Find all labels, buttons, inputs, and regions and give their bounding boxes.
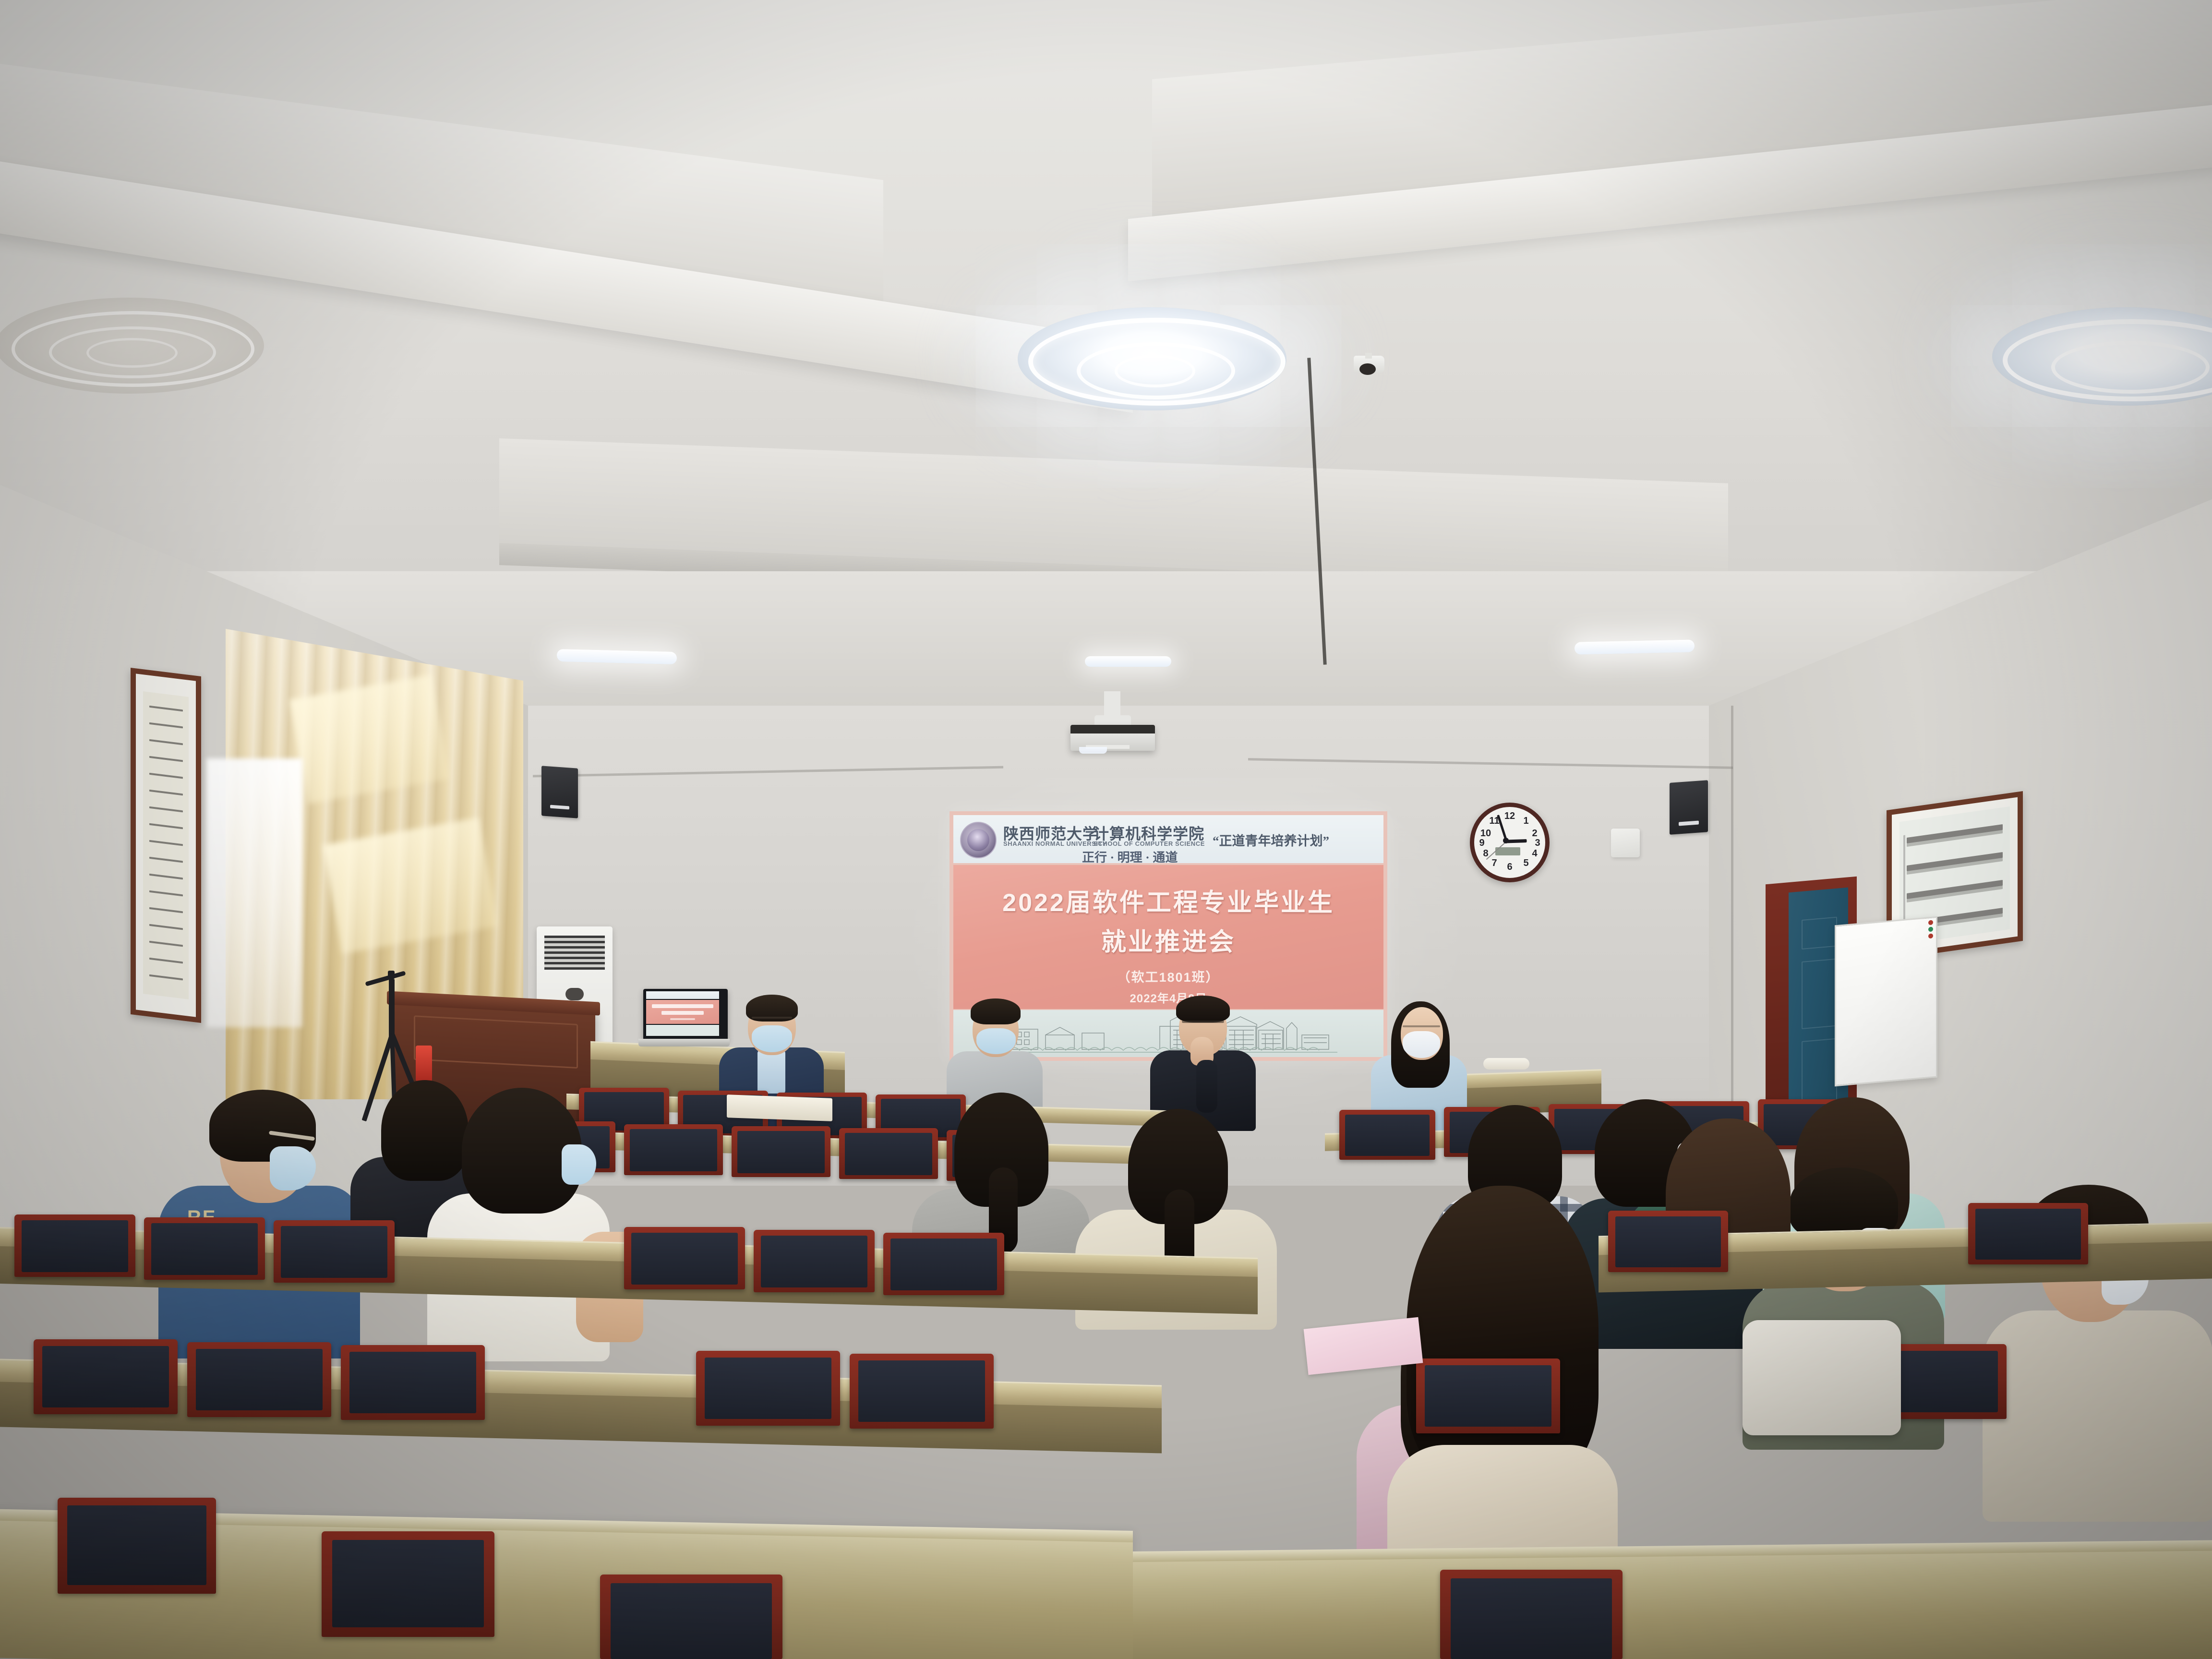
window-glare [206, 758, 302, 1027]
seat-d1 [34, 1339, 178, 1414]
wall-mounted-box [1611, 829, 1640, 857]
wall-clock: 12 1 2 3 4 5 6 7 8 9 10 11 [1470, 803, 1550, 882]
seat-d2 [187, 1342, 331, 1417]
clock-num-9: 9 [1476, 838, 1488, 849]
clock-num-1: 1 [1520, 816, 1532, 827]
seat-dr1 [1416, 1358, 1560, 1433]
seat-c2 [144, 1217, 265, 1280]
panelist1-face-mask [976, 1028, 1016, 1054]
seat-d5 [850, 1354, 994, 1429]
dark-long-hair [1407, 1186, 1599, 1483]
panelist2-hair [1176, 996, 1230, 1022]
notebook [727, 1094, 832, 1121]
laptop-slide-body [646, 1000, 719, 1024]
slide-college-motto: 正行 · 明理 · 通道 [1082, 848, 1178, 866]
presenter-glasses-icon [752, 1017, 792, 1019]
beige-jacket-torso [1983, 1310, 2212, 1522]
seat-cr1 [1608, 1211, 1728, 1272]
slide-title-line1: 2022届软件工程专业毕业生 [953, 882, 1383, 918]
student-white-tank [418, 1088, 624, 1361]
panelist1-hair [971, 998, 1021, 1024]
seat-cr2 [1968, 1203, 2088, 1264]
white-backpack [1743, 1320, 1901, 1435]
seat-br1 [1339, 1110, 1435, 1160]
seat-foreground-3 [600, 1575, 782, 1659]
white-tank-face-mask [562, 1144, 596, 1185]
clock-num-12: 12 [1504, 811, 1515, 822]
slide-header: 陕西师范大学 计算机科学学院 SHAANXI NORMAL UNIVERSITY… [953, 815, 1383, 863]
presenter-laptop[interactable] [643, 989, 725, 1051]
panelist2-glasses-icon [1182, 1021, 1224, 1023]
presenter-shirt [757, 1050, 785, 1094]
laptop-slide-header [646, 991, 719, 999]
desk-row-foreground-right [1133, 1545, 2212, 1659]
seat-d4 [696, 1351, 840, 1426]
seat-c5 [754, 1230, 875, 1292]
ceiling-light-left [0, 298, 264, 394]
water-bottle [416, 1046, 432, 1081]
panelist-black-polo [1150, 993, 1256, 1127]
clock-num-3: 3 [1532, 838, 1543, 849]
clock-num-8: 8 [1480, 848, 1491, 859]
clock-num-10: 10 [1480, 828, 1491, 839]
security-camera [1354, 353, 1384, 382]
slide-university-en: SHAANXI NORMAL UNIVERSITY [1003, 840, 1107, 847]
clock-hour-hand [1506, 839, 1527, 843]
clock-num-7: 7 [1489, 858, 1500, 869]
presenter-face-mask [752, 1025, 792, 1052]
projector-lens [1079, 747, 1107, 754]
lecture-hall-photo: 陕西师范大学 计算机科学学院 SHAANXI NORMAL UNIVERSITY… [0, 0, 2212, 1659]
blue-tee-face-mask [270, 1146, 316, 1190]
vertical-calligraphy-scroll [131, 668, 201, 1023]
panelist2-forearm [1196, 1060, 1217, 1113]
rolled-paper [1483, 1058, 1529, 1070]
seat-c6 [883, 1233, 1004, 1295]
university-crest-icon [960, 822, 997, 858]
clock-num-6: 6 [1504, 862, 1515, 873]
flip-chart-whiteboard [1835, 916, 1937, 1087]
slide-college-en: SCHOOL OF COMPUTER SCIENCE [1094, 840, 1205, 847]
wall-speaker-right [1670, 780, 1708, 835]
clock-num-5: 5 [1520, 858, 1532, 869]
seat-b2 [624, 1124, 723, 1175]
slide-subtitle: （软工1801班） [953, 967, 1383, 986]
seat-b3 [732, 1126, 830, 1177]
recessed-strip-projector [1085, 656, 1171, 667]
seat-c1 [14, 1214, 135, 1277]
slide-title-line2: 就业推进会 [953, 922, 1383, 958]
panelist3-glasses-icon [1403, 1025, 1440, 1027]
recessed-strip-right [1575, 639, 1695, 654]
wall-speaker-left [541, 766, 578, 818]
ceiling-light-center [1018, 307, 1286, 410]
laptop-slide-footer [646, 1025, 719, 1036]
panelist3-face-mask [1403, 1031, 1440, 1058]
seat-d3 [341, 1345, 485, 1420]
slide-body: 2022届软件工程专业毕业生 就业推进会 （软工1801班） 2022年4月9日 [953, 865, 1383, 1009]
slide-program-slogan: “正道青年培养计划” [1213, 830, 1329, 849]
seat-foreground-2 [322, 1531, 494, 1637]
dark-long-hair-shoulder [1387, 1445, 1618, 1560]
seat-c3 [274, 1220, 395, 1283]
clock-center-pin [1503, 838, 1509, 843]
seat-c4 [624, 1227, 745, 1289]
seat-foreground-4 [1440, 1570, 1623, 1659]
seat-foreground-1 [58, 1498, 216, 1594]
